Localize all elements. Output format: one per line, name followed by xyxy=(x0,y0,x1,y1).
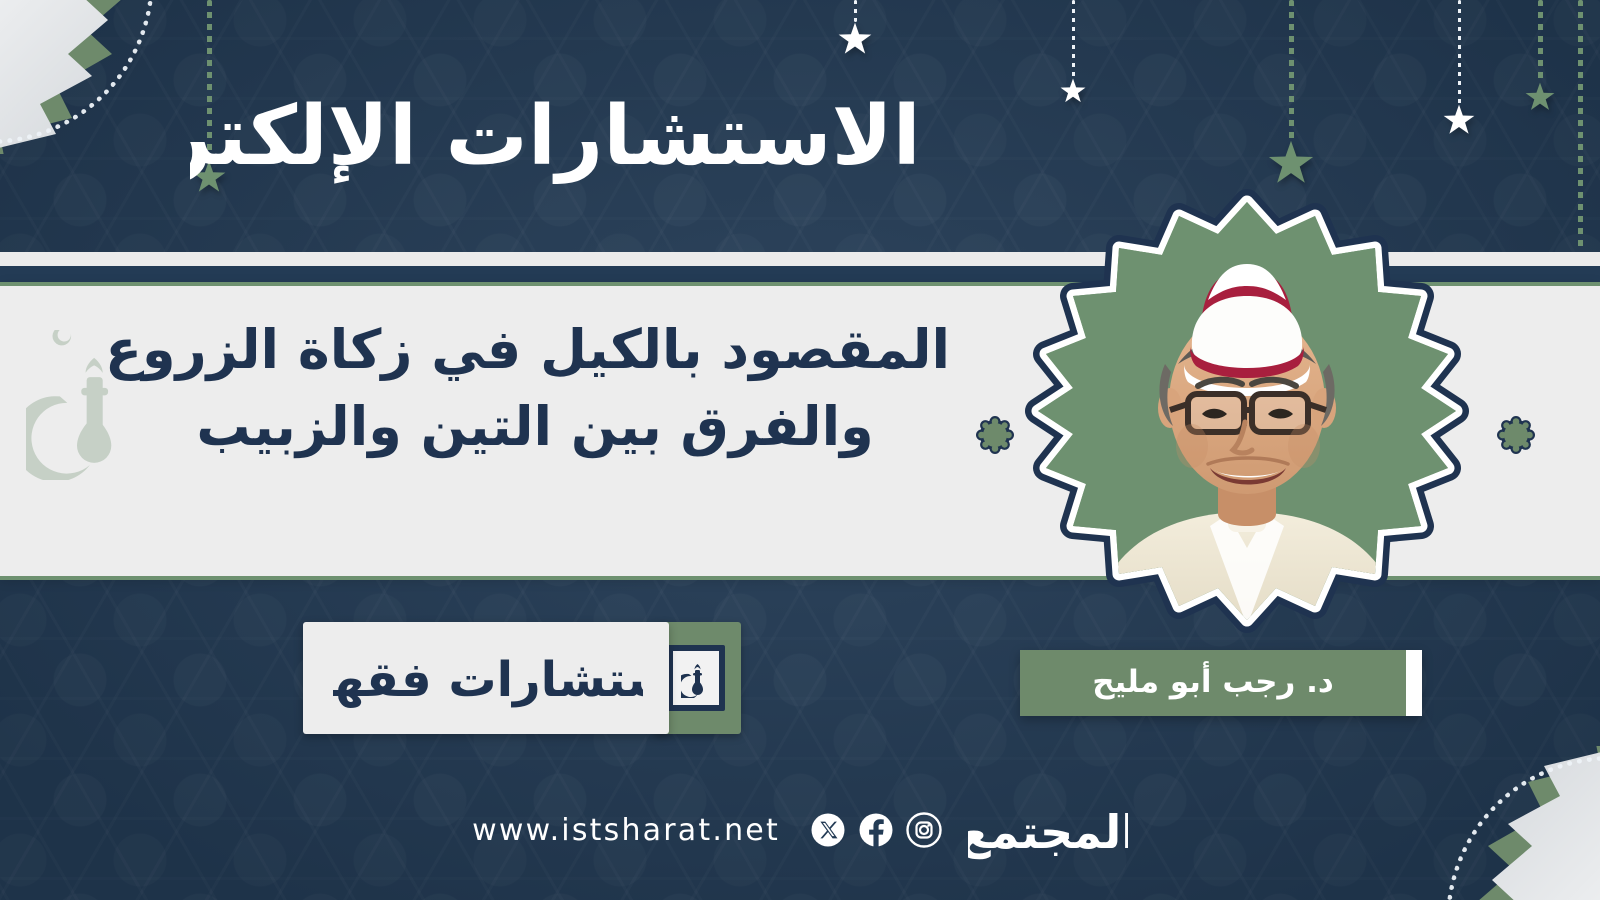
speaker-portrait xyxy=(1032,196,1462,626)
website-url[interactable]: www.istsharat.net xyxy=(472,813,780,848)
rosette-dot-right xyxy=(1496,415,1536,455)
hanging-star-1 xyxy=(838,0,872,56)
badge-label: استشارات فقهية xyxy=(333,652,643,708)
footer-logo-text: المجتمع xyxy=(968,805,1128,859)
x-icon[interactable] xyxy=(810,812,846,848)
star-icon xyxy=(838,22,872,56)
hanging-star-3 xyxy=(1268,0,1314,186)
nameplate-accent-bar xyxy=(1406,650,1422,716)
title-line-2: والفرق بين التين والزبيب xyxy=(120,389,950,466)
star-string xyxy=(854,0,857,22)
title-line-1: المقصود بالكيل في زكاة الزروع xyxy=(120,312,950,389)
rosette-dot-left xyxy=(975,415,1015,455)
banner-canvas: بوابة الاستشارات الإلكترونية المقصود بال… xyxy=(0,0,1600,900)
star-icon xyxy=(1268,140,1314,186)
star-string xyxy=(1072,0,1075,78)
speaker-nameplate: د. رجب أبو مليح xyxy=(1020,650,1422,716)
footer: المجتمع www.istsharat.net xyxy=(0,788,1600,872)
hanging-star-2 xyxy=(1060,0,1086,104)
badge-label-plate: استشارات فقهية xyxy=(303,622,669,734)
star-string xyxy=(1289,0,1294,140)
nameplate-body: د. رجب أبو مليح xyxy=(1020,650,1406,716)
site-calligraphy-header: بوابة الاستشارات الإلكترونية xyxy=(190,56,950,206)
header-calligraphy-text: بوابة الاستشارات الإلكترونية xyxy=(190,89,950,185)
hanging-star-7 xyxy=(1525,0,1555,112)
instagram-icon[interactable] xyxy=(906,812,942,848)
badge-mosque-crescent-icon xyxy=(667,645,725,711)
star-icon xyxy=(1060,78,1086,104)
speaker-name: د. رجب أبو مليح xyxy=(1092,664,1334,700)
title-block: المقصود بالكيل في زكاة الزروع والفرق بين… xyxy=(120,312,950,465)
topic-badge[interactable]: استشارات فقهية xyxy=(303,622,741,734)
star-string xyxy=(1538,0,1543,82)
footer-logo-almujtama[interactable]: المجتمع xyxy=(968,788,1128,872)
hanging-star-4 xyxy=(1443,0,1475,136)
star-icon xyxy=(1443,104,1475,136)
social-links xyxy=(810,812,942,848)
facebook-icon[interactable] xyxy=(858,812,894,848)
star-string xyxy=(1458,0,1461,104)
star-icon xyxy=(1525,82,1555,112)
